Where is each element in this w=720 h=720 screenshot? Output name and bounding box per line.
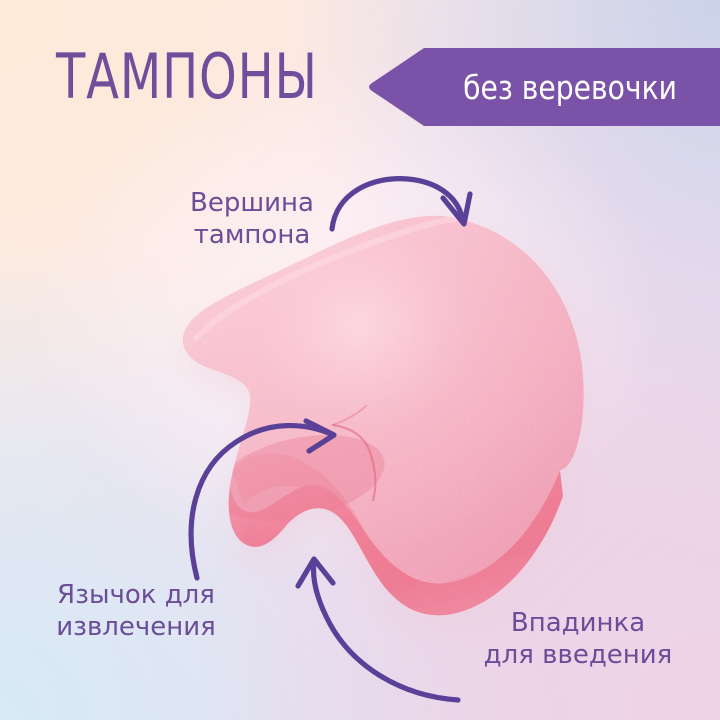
callout-label-tampon-tip: Вершина тампона (152, 188, 352, 251)
ribbon-label: без веревочки (431, 48, 708, 126)
page-title: ТАМПОНЫ (56, 46, 318, 108)
sponge-body (183, 216, 610, 650)
callout-label-removal-tab: Язычок для извлечения (28, 580, 244, 643)
header: ТАМПОНЫ без веревочки (0, 0, 720, 150)
callout-label-insertion-cavity: Впадинка для введения (468, 608, 688, 671)
ribbon-banner: без веревочки (366, 48, 720, 126)
poster-canvas: ТАМПОНЫ без веревочки Вершина тампона Яз… (0, 0, 720, 720)
